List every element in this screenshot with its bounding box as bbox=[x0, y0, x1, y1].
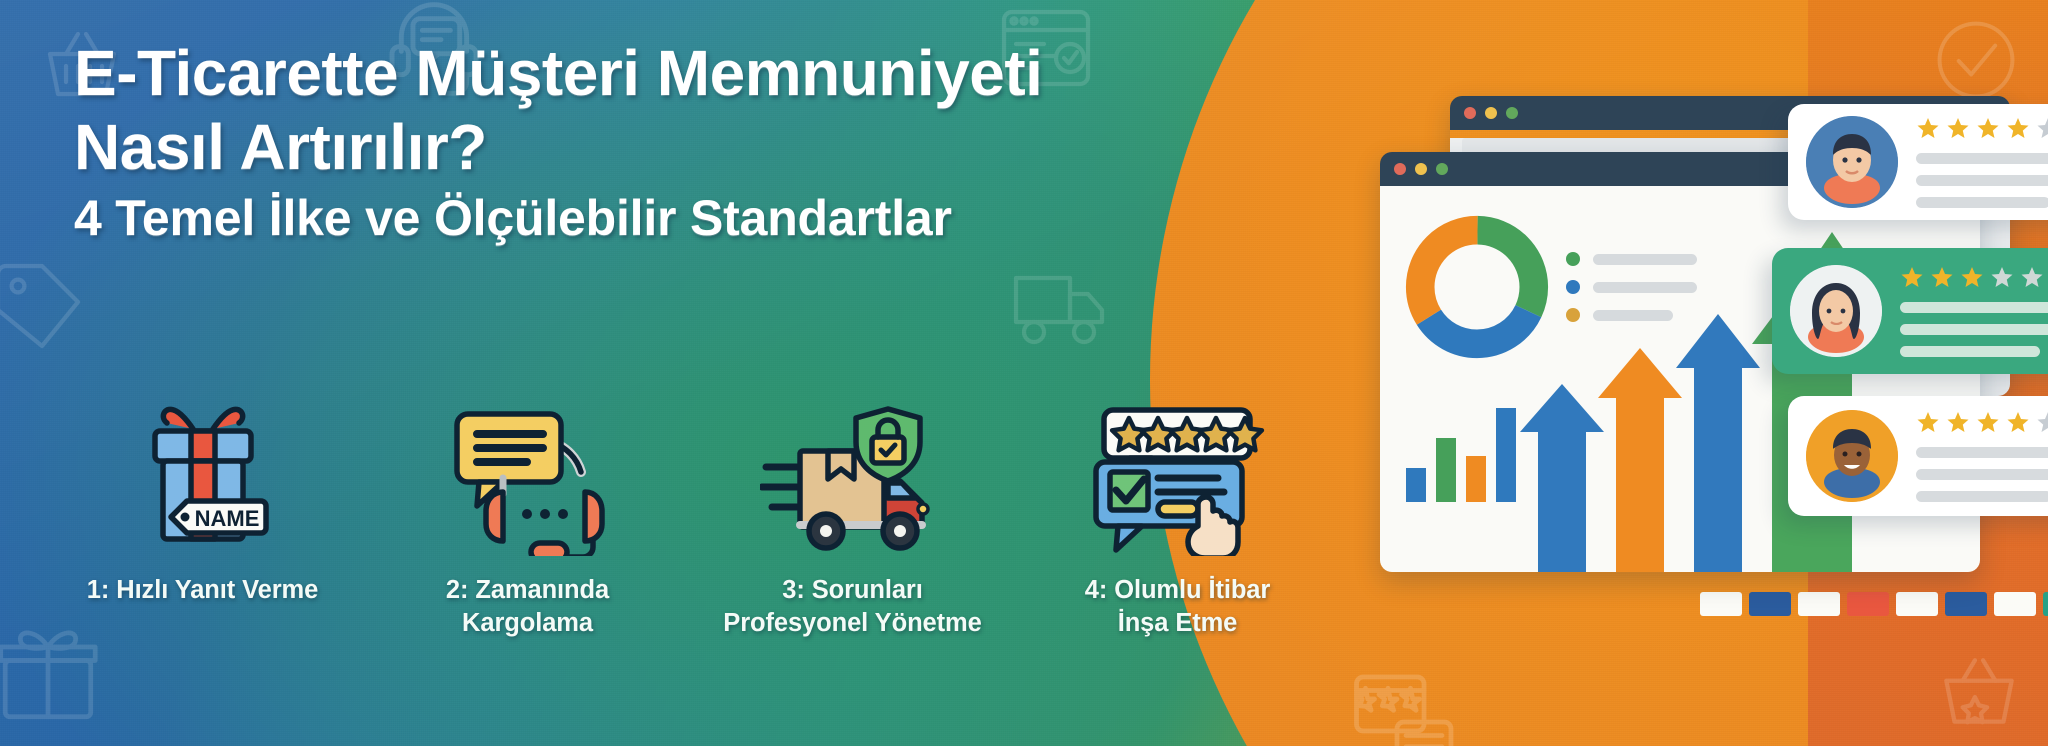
pillar-3-label: 3: Sorunları bbox=[782, 574, 923, 607]
review-card-icon bbox=[1352, 668, 1460, 746]
pillar-3-label-2: Profesyonel Yönetme bbox=[723, 607, 981, 640]
legend-label-placeholder bbox=[1593, 282, 1697, 293]
pillar-4-art bbox=[1090, 400, 1265, 560]
avatar bbox=[1790, 265, 1882, 357]
star-filled-icon bbox=[1976, 116, 2000, 140]
male-avatar-blue bbox=[1806, 116, 1898, 208]
review-card-2-content bbox=[1900, 265, 2048, 357]
legend-dot-blue bbox=[1566, 280, 1580, 294]
pillar-1-label: 1: Hızlı Yanıt Verme bbox=[87, 574, 318, 607]
avatar bbox=[1806, 116, 1898, 208]
star-empty-icon bbox=[2020, 265, 2044, 289]
female-avatar-green bbox=[1790, 265, 1882, 357]
legend-item bbox=[1566, 252, 1716, 266]
window-maximize-dot[interactable] bbox=[1436, 163, 1448, 175]
legend-label-placeholder bbox=[1593, 254, 1697, 265]
rating-stars bbox=[1916, 410, 2048, 434]
review-text-lines bbox=[1916, 447, 2048, 502]
rating-stars bbox=[1916, 116, 2048, 140]
review-card-3-content bbox=[1916, 410, 2048, 502]
text-line bbox=[1900, 346, 2040, 357]
pillar-1-art: NAME bbox=[123, 400, 283, 560]
dashboard-illustration bbox=[1380, 96, 2048, 616]
pillar-3-art bbox=[760, 400, 945, 560]
window-close-dot[interactable] bbox=[1394, 163, 1406, 175]
male-avatar-orange bbox=[1806, 410, 1898, 502]
pillar-4-label: 4: Olumlu İtibar bbox=[1085, 574, 1270, 607]
star-filled-icon bbox=[2006, 410, 2030, 434]
review-card-1[interactable] bbox=[1788, 104, 2048, 220]
text-line bbox=[1900, 324, 2048, 335]
star-filled-icon bbox=[2006, 116, 2030, 140]
window-minimize-dot[interactable] bbox=[1415, 163, 1427, 175]
delivery-truck-icon bbox=[1010, 258, 1114, 350]
star-filled-icon bbox=[1976, 410, 2000, 434]
star-filled-icon bbox=[1900, 265, 1924, 289]
orange-arrow-mid bbox=[1598, 348, 1682, 572]
review-text-lines bbox=[1900, 302, 2048, 357]
headline-block: E-Ticarette Müşteri Memnuniyeti Nasıl Ar… bbox=[74, 36, 1194, 248]
text-line bbox=[1916, 175, 2048, 186]
blue-arrow-tall bbox=[1676, 314, 1760, 572]
review-card-2[interactable] bbox=[1772, 248, 2048, 374]
pillar-4-label-2: İnşa Etme bbox=[1118, 607, 1238, 640]
star-filled-icon bbox=[1916, 116, 1940, 140]
text-line bbox=[1900, 302, 2048, 313]
gift-box-icon: NAME bbox=[123, 405, 283, 555]
blue-arrow-short bbox=[1520, 384, 1604, 572]
star-filled-icon bbox=[1946, 116, 1970, 140]
legend-dot-green bbox=[1566, 252, 1580, 266]
text-line bbox=[1916, 153, 2048, 164]
text-line bbox=[1916, 197, 2048, 208]
star-empty-icon bbox=[2036, 116, 2048, 140]
delivery-truck-shield-icon bbox=[760, 405, 945, 555]
star-empty-icon bbox=[2036, 410, 2048, 434]
banner-root: E-Ticarette Müşteri Memnuniyeti Nasıl Ar… bbox=[0, 0, 2048, 746]
legend-item bbox=[1566, 280, 1716, 294]
headline-line-1: E-Ticarette Müşteri Memnuniyeti bbox=[74, 36, 1194, 110]
text-line bbox=[1916, 491, 2048, 502]
headline-line-3: 4 Temel İlke ve Ölçülebilir Standartlar bbox=[74, 188, 1194, 248]
window-maximize-dot[interactable] bbox=[1506, 107, 1518, 119]
pillar-1[interactable]: NAME 1: Hızlı Yanıt Verme bbox=[40, 400, 365, 607]
check-circle-icon bbox=[1930, 14, 2022, 106]
review-text-lines bbox=[1916, 153, 2048, 208]
rating-stars bbox=[1900, 265, 2048, 289]
pillars-row: NAME 1: Hızlı Yanıt Verme bbox=[40, 400, 1340, 710]
pillar-2-art bbox=[445, 400, 610, 560]
window-minimize-dot[interactable] bbox=[1485, 107, 1497, 119]
headset-chat-icon bbox=[445, 404, 610, 556]
star-filled-icon bbox=[1916, 410, 1940, 434]
review-card-1-content bbox=[1916, 116, 2048, 208]
avatar bbox=[1806, 410, 1898, 502]
text-line bbox=[1916, 447, 2048, 458]
window-close-dot[interactable] bbox=[1464, 107, 1476, 119]
pillar-3[interactable]: 3: Sorunları Profesyonel Yönetme bbox=[690, 400, 1015, 640]
pillar-2[interactable]: 2: Zamanında Kargolama bbox=[365, 400, 690, 640]
review-rating-click-icon bbox=[1090, 404, 1265, 556]
price-tag-icon bbox=[0, 258, 86, 354]
star-filled-icon bbox=[1930, 265, 1954, 289]
star-empty-icon bbox=[1990, 265, 2014, 289]
pillar-4[interactable]: 4: Olumlu İtibar İnşa Etme bbox=[1015, 400, 1340, 640]
headline-line-2: Nasıl Artırılır? bbox=[74, 110, 1194, 184]
gift-tag-label: NAME bbox=[194, 506, 259, 531]
review-card-3[interactable] bbox=[1788, 396, 2048, 516]
pillar-2-label-2: Kargolama bbox=[462, 607, 593, 640]
pillar-2-label: 2: Zamanında bbox=[446, 574, 609, 607]
shopping-basket-icon bbox=[1930, 644, 2028, 742]
star-filled-icon bbox=[1946, 410, 1970, 434]
text-line bbox=[1916, 469, 2048, 480]
star-filled-icon bbox=[1960, 265, 1984, 289]
